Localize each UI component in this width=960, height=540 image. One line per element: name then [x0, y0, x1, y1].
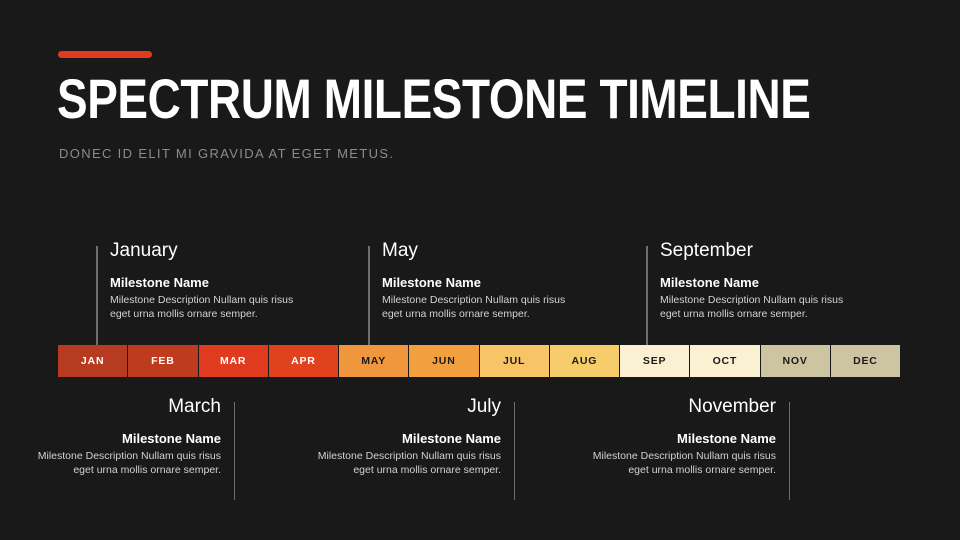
month-segment-jan[interactable]: JAN	[58, 345, 128, 377]
milestone-name-label: Milestone Name	[110, 275, 306, 291]
timeline-bar: JANFEBMARAPRMAYJUNJULAUGSEPOCTNOVDEC	[58, 345, 900, 377]
milestone-name-label: Milestone Name	[305, 431, 501, 447]
milestone-description: Milestone Description Nullam quis risus …	[305, 450, 501, 477]
month-segment-aug[interactable]: AUG	[550, 345, 620, 377]
milestone-name-label: Milestone Name	[25, 431, 221, 447]
milestone-body: November Milestone Name Milestone Descri…	[580, 396, 790, 477]
milestone-description: Milestone Description Nullam quis risus …	[660, 294, 856, 321]
milestone-description: Milestone Description Nullam quis risus …	[580, 450, 776, 477]
month-segment-oct[interactable]: OCT	[690, 345, 760, 377]
month-segment-nov[interactable]: NOV	[761, 345, 831, 377]
milestone-month-label: July	[305, 396, 501, 418]
page-subtitle: DONEC ID ELIT MI GRAVIDA AT EGET METUS.	[59, 146, 394, 161]
milestone-month-label: January	[110, 240, 306, 262]
milestone-body: September Milestone Name Milestone Descr…	[646, 240, 856, 321]
milestone-month-label: May	[382, 240, 578, 262]
milestone-name-label: Milestone Name	[660, 275, 856, 291]
month-segment-may[interactable]: MAY	[339, 345, 409, 377]
milestone-body: July Milestone Name Milestone Descriptio…	[305, 396, 515, 477]
connector-line-september	[646, 246, 648, 349]
month-segment-feb[interactable]: FEB	[128, 345, 198, 377]
month-segment-dec[interactable]: DEC	[831, 345, 900, 377]
milestone-body: May Milestone Name Milestone Description…	[368, 240, 578, 321]
accent-bar	[58, 51, 152, 58]
connector-line-january	[96, 246, 98, 349]
milestone-month-label: September	[660, 240, 856, 262]
month-segment-mar[interactable]: MAR	[199, 345, 269, 377]
milestone-name-label: Milestone Name	[580, 431, 776, 447]
page-title: SPECTRUM MILESTONE TIMELINE	[57, 68, 810, 130]
month-segment-sep[interactable]: SEP	[620, 345, 690, 377]
connector-line-november	[789, 402, 791, 500]
milestone-body: March Milestone Name Milestone Descripti…	[25, 396, 235, 477]
connector-line-july	[514, 402, 516, 500]
milestone-march[interactable]: March Milestone Name Milestone Descripti…	[25, 396, 235, 477]
milestone-month-label: November	[580, 396, 776, 418]
milestone-description: Milestone Description Nullam quis risus …	[25, 450, 221, 477]
connector-line-march	[234, 402, 236, 500]
milestone-may[interactable]: May Milestone Name Milestone Description…	[368, 240, 578, 321]
milestone-july[interactable]: July Milestone Name Milestone Descriptio…	[305, 396, 515, 477]
milestone-january[interactable]: January Milestone Name Milestone Descrip…	[96, 240, 306, 321]
milestone-september[interactable]: September Milestone Name Milestone Descr…	[646, 240, 856, 321]
milestone-november[interactable]: November Milestone Name Milestone Descri…	[580, 396, 790, 477]
milestone-description: Milestone Description Nullam quis risus …	[110, 294, 306, 321]
month-segment-apr[interactable]: APR	[269, 345, 339, 377]
milestone-name-label: Milestone Name	[382, 275, 578, 291]
month-segment-jun[interactable]: JUN	[409, 345, 479, 377]
month-segment-jul[interactable]: JUL	[480, 345, 550, 377]
milestone-body: January Milestone Name Milestone Descrip…	[96, 240, 306, 321]
milestone-month-label: March	[25, 396, 221, 418]
connector-line-may	[368, 246, 370, 349]
milestone-description: Milestone Description Nullam quis risus …	[382, 294, 578, 321]
timeline-slide: SPECTRUM MILESTONE TIMELINE DONEC ID ELI…	[0, 0, 960, 540]
